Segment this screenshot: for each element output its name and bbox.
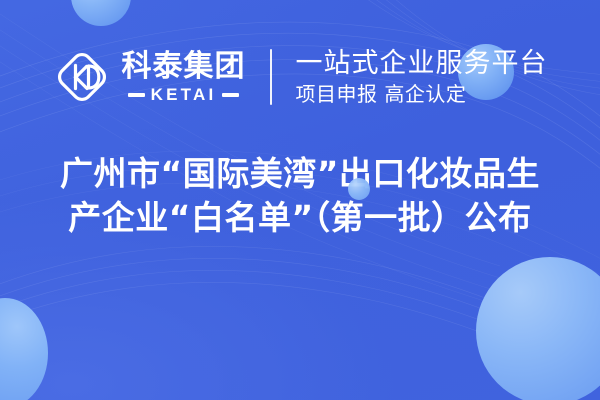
brand-name-latin: KETAI — [151, 86, 217, 103]
brand-name-latin-row: KETAI — [128, 86, 240, 103]
page-title-line-1: 广州市“国际美湾”出口化妆品生 — [28, 152, 572, 196]
brand-logo[interactable]: 科泰集团 KETAI — [53, 48, 246, 106]
tagline-main: 一站式企业服务平台 — [296, 48, 548, 80]
ketai-diamond-kd-logo-icon — [53, 48, 111, 106]
decorative-sphere-top-left — [71, 0, 131, 26]
tagline-block: 一站式企业服务平台 项目申报 高企认定 — [296, 48, 548, 106]
page-title-line-2: 产企业“白名单”（第一批）公布 — [28, 196, 572, 240]
decorative-sphere-bottom-left — [0, 298, 48, 400]
tagline-sub: 项目申报 高企认定 — [296, 82, 548, 106]
page-title: 广州市“国际美湾”出口化妆品生 产企业“白名单”（第一批）公布 — [0, 152, 600, 240]
brand-name-cn: 科泰集团 — [122, 51, 246, 83]
promo-banner: 科泰集团 KETAI 一站式企业服务平台 项目申报 高企认定 广州市“国际美湾”… — [0, 0, 600, 400]
decorative-sphere-bottom-right — [476, 257, 600, 400]
brand-wordmark: 科泰集团 KETAI — [122, 51, 246, 103]
banner-header: 科泰集团 KETAI 一站式企业服务平台 项目申报 高企认定 — [0, 44, 600, 110]
brand-rule-left-icon — [128, 93, 145, 97]
header-divider — [270, 49, 272, 105]
brand-rule-right-icon — [222, 93, 239, 97]
